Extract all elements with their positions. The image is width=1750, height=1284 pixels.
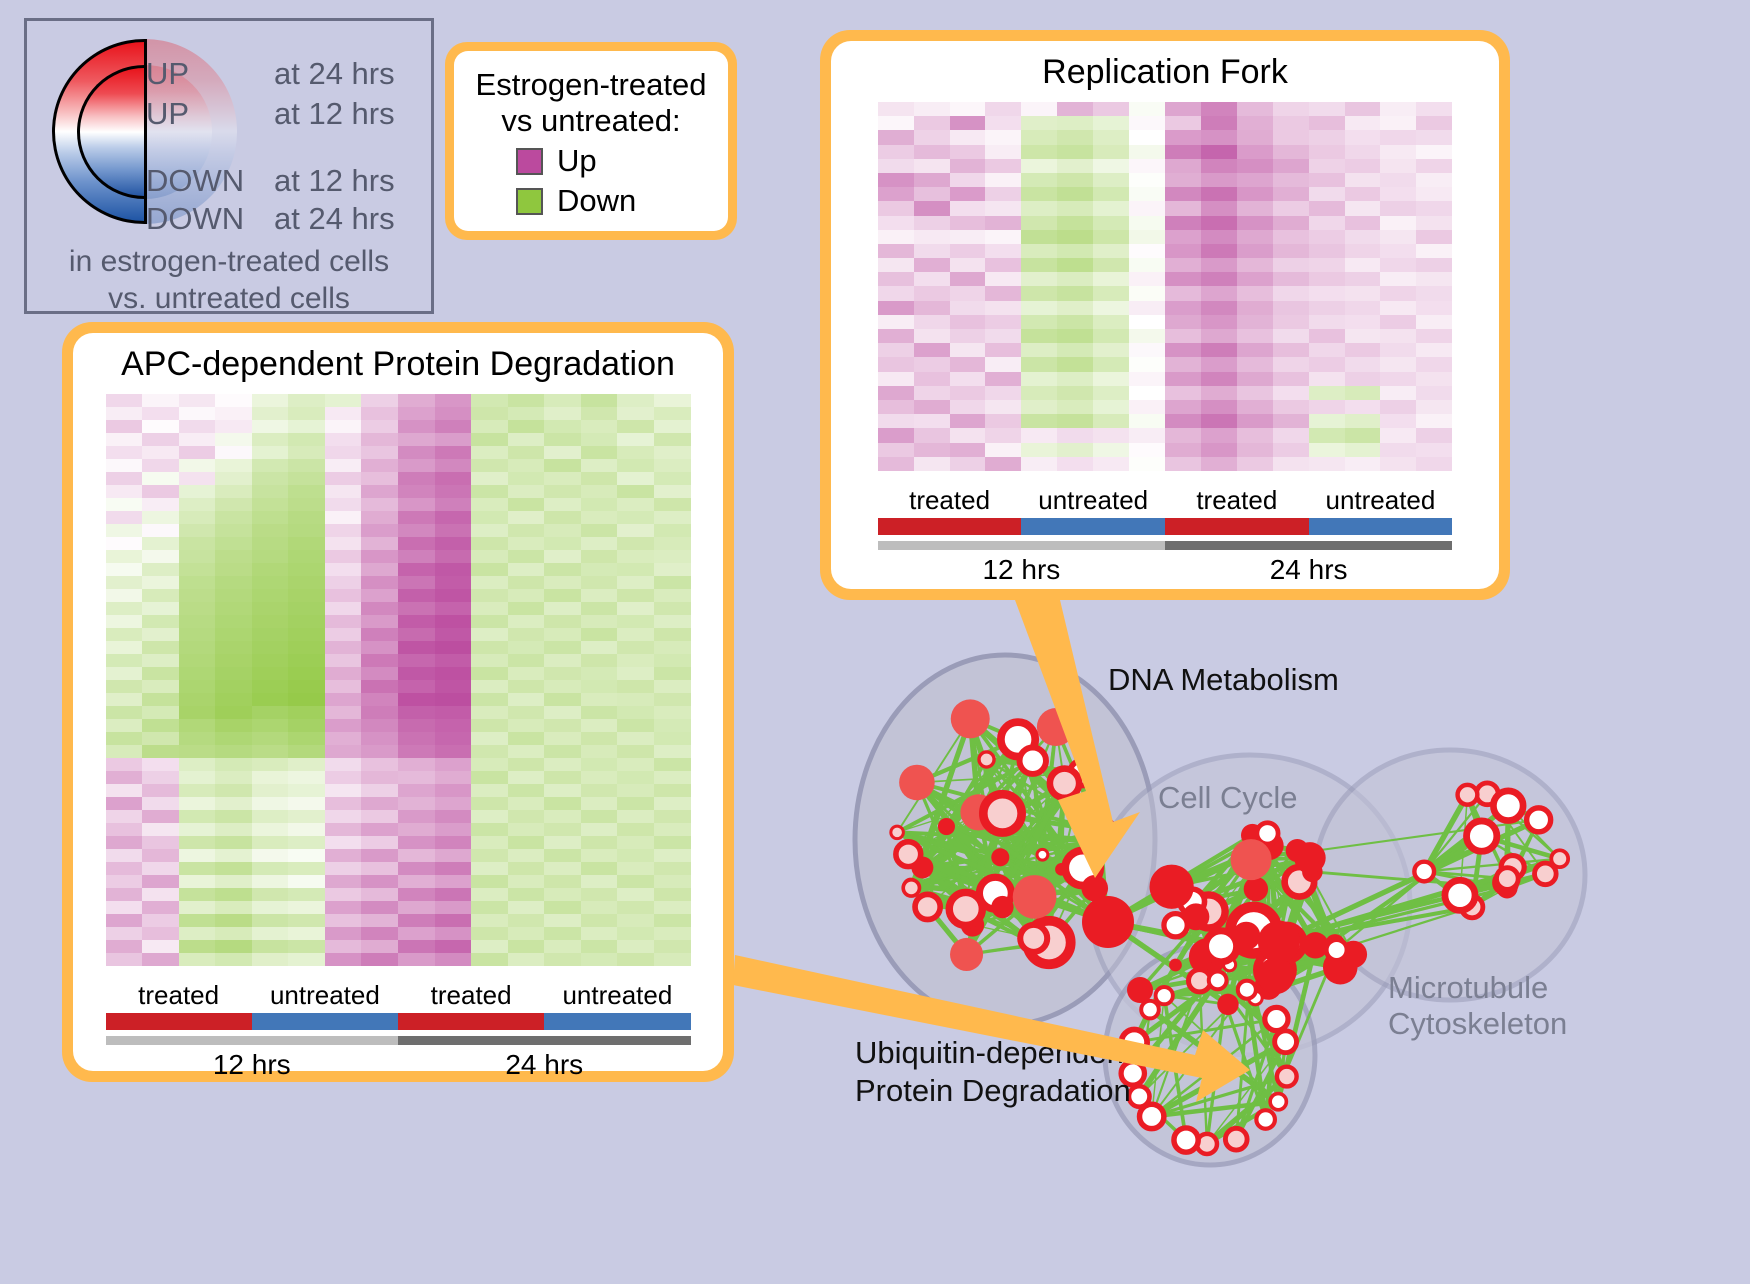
heatmap-cell [325, 394, 362, 407]
heatmap-cell [1416, 173, 1452, 187]
heatmap-cell [1021, 372, 1057, 386]
heatmap-cell [435, 719, 472, 732]
heatmap-cell [1129, 343, 1165, 357]
heatmap-cell [950, 400, 986, 414]
heatmap-cell [1345, 230, 1381, 244]
heatmap-cell [325, 537, 362, 550]
heatmap-cell [215, 771, 252, 784]
heatmap-cell [1093, 230, 1129, 244]
heatmap-cell [179, 758, 216, 771]
heatmap-cell [1345, 130, 1381, 144]
heatmap-cell [1129, 201, 1165, 215]
heatmap-cell [544, 771, 581, 784]
heatmap-cell [985, 386, 1021, 400]
heatmap-cell [654, 394, 691, 407]
network-node [1083, 814, 1117, 848]
key-row-down: Down [516, 183, 666, 219]
heatmap-cell [878, 428, 914, 442]
heatmap-cell [435, 940, 472, 953]
heatmap-cell [179, 875, 216, 888]
heatmap-cell [1165, 286, 1201, 300]
heatmap-cell [950, 414, 986, 428]
heatmap-cell [288, 888, 325, 901]
heatmap-cell [1057, 173, 1093, 187]
heatmap-cell [581, 537, 618, 550]
heatmap-cell [1345, 216, 1381, 230]
heatmap-cell [142, 927, 179, 940]
heatmap-cell [215, 420, 252, 433]
heatmap-cell [288, 927, 325, 940]
heatmap-cell [1380, 230, 1416, 244]
heatmap-cell [325, 511, 362, 524]
heatmap-cell [179, 485, 216, 498]
heatmap-cell [617, 641, 654, 654]
heatmap-cell [252, 628, 289, 641]
heatmap-cell [914, 116, 950, 130]
heatmap-cell [544, 498, 581, 511]
heatmap-cell [435, 680, 472, 693]
heatmap-cell [617, 849, 654, 862]
heatmap-cell [1093, 201, 1129, 215]
heatmap-cell [1057, 286, 1093, 300]
heatmap-cell [435, 446, 472, 459]
heatmap-cell [1345, 301, 1381, 315]
heatmap-cell [617, 550, 654, 563]
heatmap-cell [581, 628, 618, 641]
heatmap-cell [1021, 301, 1057, 315]
heatmap-cell [985, 400, 1021, 414]
heatmap-cell [106, 615, 143, 628]
heatmap-cell [435, 433, 472, 446]
heatmap-cell [288, 485, 325, 498]
heatmap-cell [471, 615, 508, 628]
heatmap-cell [508, 446, 545, 459]
heatmap-cell [179, 914, 216, 927]
heatmap-cell [1345, 329, 1381, 343]
heatmap-cell [1380, 159, 1416, 173]
heatmap-cell [544, 511, 581, 524]
heatmap-cell [544, 602, 581, 615]
heatmap-cell [398, 875, 435, 888]
network-node [1127, 977, 1153, 1003]
heatmap-cell [288, 446, 325, 459]
network-node [1258, 921, 1300, 963]
heatmap-cell [1237, 286, 1273, 300]
heatmap-cell [1273, 130, 1309, 144]
heatmap-cell [1416, 201, 1452, 215]
heatmap-cell [1416, 102, 1452, 116]
heatmap-cell [1021, 116, 1057, 130]
network-node [1286, 839, 1309, 862]
heatmap-cell [581, 485, 618, 498]
heatmap-cell [179, 524, 216, 537]
heatmap-cell [179, 394, 216, 407]
heatmap-cell [1021, 258, 1057, 272]
heatmap-cell [878, 201, 914, 215]
heatmap-cell [544, 693, 581, 706]
heatmap-cell [142, 485, 179, 498]
heatmap-cell [617, 888, 654, 901]
heatmap-cell [215, 693, 252, 706]
heatmap-cell [179, 654, 216, 667]
heatmap-cell [1057, 102, 1093, 116]
heatmap-cell [1165, 357, 1201, 371]
heatmap-cell [654, 407, 691, 420]
heatmap-cell [179, 953, 216, 966]
heatmap-cell [179, 862, 216, 875]
heatmap-cell [508, 667, 545, 680]
heatmap-cell [1057, 116, 1093, 130]
heatmap-cell [544, 732, 581, 745]
heatmap-cell [654, 784, 691, 797]
heatmap-cell [398, 680, 435, 693]
heatmap-cell [471, 862, 508, 875]
network-node [1231, 839, 1272, 880]
group-label: treated [1165, 485, 1309, 516]
heatmap-cell [914, 244, 950, 258]
heatmap-cell [252, 602, 289, 615]
heatmap-cell [215, 537, 252, 550]
heatmap-cell [950, 329, 986, 343]
heatmap-cell [985, 329, 1021, 343]
heatmap-cell [617, 719, 654, 732]
heatmap-cell [252, 420, 289, 433]
heatmap-cell [142, 407, 179, 420]
heatmap-cell [1165, 329, 1201, 343]
heatmap-cell [142, 888, 179, 901]
heatmap-cell [252, 719, 289, 732]
heatmap-cell [1093, 244, 1129, 258]
heatmap-cell [654, 719, 691, 732]
heatmap-cell [617, 589, 654, 602]
heatmap-cell [1380, 201, 1416, 215]
heatmap-cell [1380, 386, 1416, 400]
heatmap-cell [1093, 145, 1129, 159]
heatmap-cell [617, 485, 654, 498]
heatmap-cell [1093, 372, 1129, 386]
heatmap-cell [142, 849, 179, 862]
heatmap-cell [361, 797, 398, 810]
heatmap-cell [179, 498, 216, 511]
heatmap-cell [581, 953, 618, 966]
heatmap-cell [325, 784, 362, 797]
heatmap-cell [914, 187, 950, 201]
heatmap-cell [361, 940, 398, 953]
heatmap-cell [142, 472, 179, 485]
heatmap-cell [1093, 343, 1129, 357]
heatmap-cell [288, 862, 325, 875]
heatmap-cell [471, 836, 508, 849]
heatmap-cell [544, 901, 581, 914]
heatmap-cell [471, 394, 508, 407]
heatmap-cell [325, 628, 362, 641]
heatmap-cell [1237, 130, 1273, 144]
heatmap-cell [288, 758, 325, 771]
heatmap-cell [508, 537, 545, 550]
heatmap-cell [914, 258, 950, 272]
heatmap-cell [508, 433, 545, 446]
heatmap-cell [106, 797, 143, 810]
heatmap-cell [288, 771, 325, 784]
heatmap-cell [544, 485, 581, 498]
up-down-key-box: Estrogen-treated vs untreated: Up Down [445, 42, 737, 240]
legend-direction-down-12: DOWN [146, 163, 244, 199]
heatmap-cell [1129, 216, 1165, 230]
heatmap-cell [1237, 372, 1273, 386]
heatmap-cell [914, 386, 950, 400]
heatmap-cell [985, 130, 1021, 144]
heatmap-cell [435, 407, 472, 420]
network-node [950, 938, 983, 971]
heatmap-cell [1021, 386, 1057, 400]
heatmap-cell [1273, 286, 1309, 300]
heatmap-cell [985, 116, 1021, 130]
heatmap-cell [617, 914, 654, 927]
heatmap-cell [1021, 244, 1057, 258]
heatmap-cell [654, 498, 691, 511]
heatmap-cell [1273, 173, 1309, 187]
heatmap-cell [1057, 230, 1093, 244]
heatmap-cell [361, 511, 398, 524]
heatmap-cell [544, 927, 581, 940]
heatmap-cell [106, 641, 143, 654]
heatmap-cell [1057, 216, 1093, 230]
heatmap-cell [142, 901, 179, 914]
heatmap-cell [361, 849, 398, 862]
heatmap-cell [617, 433, 654, 446]
heatmap-cell [1129, 372, 1165, 386]
heatmap-cell [435, 641, 472, 654]
heatmap-cell [914, 457, 950, 471]
heatmap-cell [1093, 414, 1129, 428]
heatmap-cell [1309, 201, 1345, 215]
heatmap-cell [950, 301, 986, 315]
heatmap-cell [215, 862, 252, 875]
heatmap-cell [914, 286, 950, 300]
heatmap-cell [1380, 286, 1416, 300]
heatmap-cell [288, 407, 325, 420]
heatmap-cell [654, 537, 691, 550]
heatmap-cell [544, 745, 581, 758]
heatmap-cell [325, 849, 362, 862]
heatmap-cell [1416, 315, 1452, 329]
heatmap-cell [1237, 187, 1273, 201]
heatmap-cell [471, 784, 508, 797]
heatmap-cell [654, 550, 691, 563]
heatmap-cell [252, 810, 289, 823]
heatmap-cell [1129, 258, 1165, 272]
time-bar-12hrs [106, 1036, 399, 1045]
heatmap-cell [106, 602, 143, 615]
heatmap-replication-fork [878, 102, 1452, 471]
heatmap-cell [361, 771, 398, 784]
heatmap-cell [654, 888, 691, 901]
heatmap-cell [581, 589, 618, 602]
heatmap-cell [1021, 286, 1057, 300]
heatmap-cell [179, 641, 216, 654]
heatmap-cell [398, 394, 435, 407]
heatmap-cell [1273, 187, 1309, 201]
heatmap-cell [1237, 400, 1273, 414]
heatmap-cell [581, 550, 618, 563]
heatmap-cell [1129, 145, 1165, 159]
heatmap-cell [215, 394, 252, 407]
heatmap-cell [361, 745, 398, 758]
network-node [915, 894, 940, 919]
heatmap-cell [914, 301, 950, 315]
heatmap-cell [1237, 343, 1273, 357]
panel-title-apc-degradation: APC-dependent Protein Degradation [121, 345, 675, 384]
heatmap-cell [106, 524, 143, 537]
heatmap-cell [1416, 329, 1452, 343]
heatmap-cell [1201, 457, 1237, 471]
heatmap-cell [215, 732, 252, 745]
network-node [1257, 957, 1294, 994]
heatmap-cell [361, 433, 398, 446]
heatmap-cell [288, 654, 325, 667]
heatmap-cell [1380, 145, 1416, 159]
heatmap-cell [435, 758, 472, 771]
heatmap-cell [471, 745, 508, 758]
heatmap-cell [1129, 428, 1165, 442]
heatmap-cell [654, 524, 691, 537]
heatmap-cell [288, 589, 325, 602]
heatmap-cell [1380, 343, 1416, 357]
heatmap-cell [950, 116, 986, 130]
network-node [1257, 823, 1278, 844]
heatmap-cell [325, 927, 362, 940]
heatmap-cell [215, 784, 252, 797]
heatmap-cell [215, 485, 252, 498]
heatmap-cell [654, 940, 691, 953]
heatmap-cell [654, 485, 691, 498]
cluster-label-cytoskeleton: Cytoskeleton [1388, 1006, 1567, 1042]
heatmap-cell [950, 102, 986, 116]
heatmap-cell [654, 576, 691, 589]
network-svg [790, 600, 1750, 1279]
heatmap-cell [398, 732, 435, 745]
heatmap-cell [1093, 173, 1129, 187]
heatmap-cell [215, 511, 252, 524]
heatmap-cell [1345, 400, 1381, 414]
heatmap-cell [1201, 428, 1237, 442]
network-node [983, 794, 1021, 832]
heatmap-cell [106, 446, 143, 459]
heatmap-cell [508, 693, 545, 706]
heatmap-cell [252, 563, 289, 576]
heatmap-cell [617, 654, 654, 667]
heatmap-cell [435, 667, 472, 680]
heatmap-cell [215, 849, 252, 862]
heatmap-cell [142, 823, 179, 836]
heatmap-cell [325, 576, 362, 589]
heatmap-cell [1057, 428, 1093, 442]
heatmap-cell [985, 159, 1021, 173]
heatmap-cell [1416, 286, 1452, 300]
heatmap-cell [1309, 428, 1345, 442]
heatmap-cell [1345, 428, 1381, 442]
heatmap-cell [985, 343, 1021, 357]
network-diagram: DNA Metabolism Cell Cycle Microtubule Cy… [790, 600, 1750, 1279]
heatmap-cell [106, 680, 143, 693]
heatmap-cell [1165, 201, 1201, 215]
heatmap-cell [142, 420, 179, 433]
heatmap-cell [361, 953, 398, 966]
heatmap-cell [914, 145, 950, 159]
heatmap-cell [878, 386, 914, 400]
network-node [951, 699, 990, 738]
heatmap-cell [106, 771, 143, 784]
heatmap-cell [361, 888, 398, 901]
heatmap-cell [288, 836, 325, 849]
heatmap-cell [950, 187, 986, 201]
heatmap-cell [1416, 372, 1452, 386]
network-node [1238, 981, 1256, 999]
group-label: untreated [544, 980, 690, 1011]
heatmap-cell [142, 628, 179, 641]
heatmap-cell [1416, 414, 1452, 428]
heatmap-cell [1093, 443, 1129, 457]
heatmap-cell [361, 927, 398, 940]
heatmap-cell [544, 667, 581, 680]
heatmap-cell [252, 641, 289, 654]
heatmap-cell [142, 446, 179, 459]
network-node [1527, 808, 1551, 832]
heatmap-cell [215, 576, 252, 589]
heatmap-cell [179, 511, 216, 524]
heatmap-cell [1165, 173, 1201, 187]
heatmap-cell [252, 407, 289, 420]
heatmap-cell [1165, 102, 1201, 116]
heatmap-cell [361, 732, 398, 745]
heatmap-cell [1165, 216, 1201, 230]
heatmap-cell [508, 706, 545, 719]
heatmap-cell [142, 524, 179, 537]
heatmap-cell [1345, 116, 1381, 130]
heatmap-cell [1309, 329, 1345, 343]
heatmap-cell [985, 286, 1021, 300]
heatmap-cell [654, 472, 691, 485]
heatmap-cell [288, 615, 325, 628]
heatmap-cell [878, 145, 914, 159]
heatmap-cell [1201, 286, 1237, 300]
heatmap-cell [325, 888, 362, 901]
heatmap-cell [914, 159, 950, 173]
heatmap-cell [544, 940, 581, 953]
heatmap-cell [325, 654, 362, 667]
heatmap-cell [1129, 244, 1165, 258]
heatmap-cell [617, 836, 654, 849]
heatmap-cell [544, 524, 581, 537]
heatmap-cell [1021, 343, 1057, 357]
heatmap-cell [179, 433, 216, 446]
heatmap-cell [508, 589, 545, 602]
heatmap-cell [106, 667, 143, 680]
heatmap-cell [654, 433, 691, 446]
heatmap-cell [179, 693, 216, 706]
heatmap-cell [1201, 329, 1237, 343]
heatmap-cell [1057, 187, 1093, 201]
heatmap-cell [215, 459, 252, 472]
heatmap-cell [878, 187, 914, 201]
heatmap-cell [1057, 244, 1093, 258]
heatmap-cell [508, 810, 545, 823]
heatmap-cell [252, 654, 289, 667]
network-node [891, 826, 904, 839]
heatmap-cell [950, 145, 986, 159]
heatmap-cell [1057, 272, 1093, 286]
heatmap-cell [1057, 301, 1093, 315]
